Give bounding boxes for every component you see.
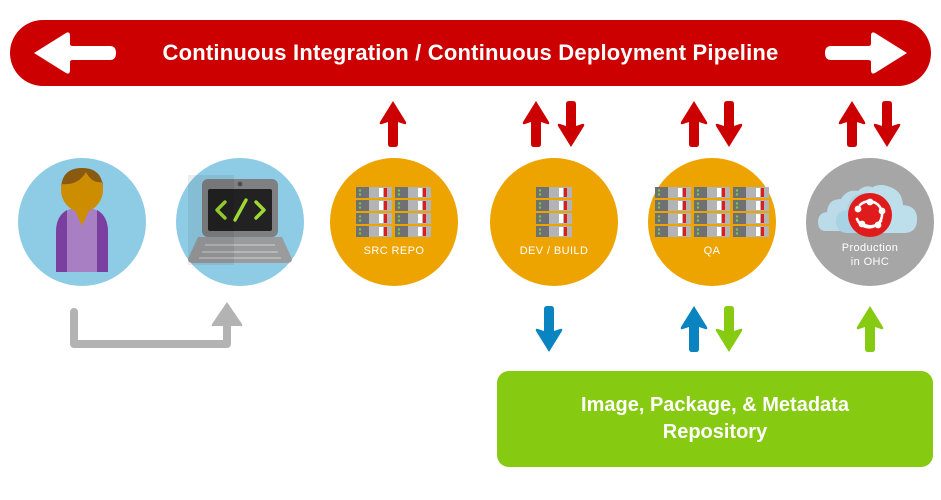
pipeline-arrow-dev-build-up	[521, 100, 551, 153]
diagram-canvas: Continuous Integration / Continuous Depl…	[0, 0, 941, 500]
page-title: Continuous Integration / Continuous Depl…	[163, 40, 779, 66]
node-src-repo[interactable]: SRC REPO	[330, 158, 458, 286]
server-rack-icon	[655, 187, 769, 241]
node-production[interactable]: Production in OHC	[806, 158, 934, 286]
node-developer[interactable]	[18, 158, 146, 286]
server-rack-icon	[536, 187, 573, 241]
node-label-production: Production in OHC	[842, 241, 899, 269]
pipeline-arrow-production-up	[837, 100, 867, 153]
arrow-left-icon	[32, 31, 118, 75]
pipeline-arrow-qa-down	[714, 100, 744, 153]
pipeline-arrow-qa-up	[679, 100, 709, 153]
elbow-arrow-icon	[60, 300, 260, 360]
repository-box[interactable]: Image, Package, & Metadata Repository	[497, 371, 933, 467]
arrow-right-icon	[823, 31, 909, 75]
pipeline-banner: Continuous Integration / Continuous Depl…	[10, 20, 931, 86]
node-label-src-repo: SRC REPO	[364, 245, 425, 258]
pipeline-arrow-dev-build-down	[556, 100, 586, 153]
node-label-qa: QA	[704, 245, 721, 258]
laptop-code-icon	[188, 175, 292, 265]
cloud-devops-icon	[818, 175, 922, 237]
pipeline-arrow-src-repo-up	[378, 100, 408, 153]
server-rack-icon	[356, 187, 432, 241]
repo-arrow-dev-build-down	[534, 305, 564, 358]
repo-arrow-qa-down	[714, 305, 744, 358]
pipeline-arrow-production-down	[872, 100, 902, 153]
repository-label: Image, Package, & Metadata Repository	[581, 392, 849, 446]
node-qa[interactable]: QA	[648, 158, 776, 286]
node-dev-build[interactable]: DEV / BUILD	[490, 158, 618, 286]
person-icon	[34, 168, 130, 272]
repo-arrow-production-up	[855, 305, 885, 358]
node-laptop[interactable]	[176, 158, 304, 286]
node-label-dev-build: DEV / BUILD	[520, 245, 589, 258]
repo-arrow-qa-up	[679, 305, 709, 358]
